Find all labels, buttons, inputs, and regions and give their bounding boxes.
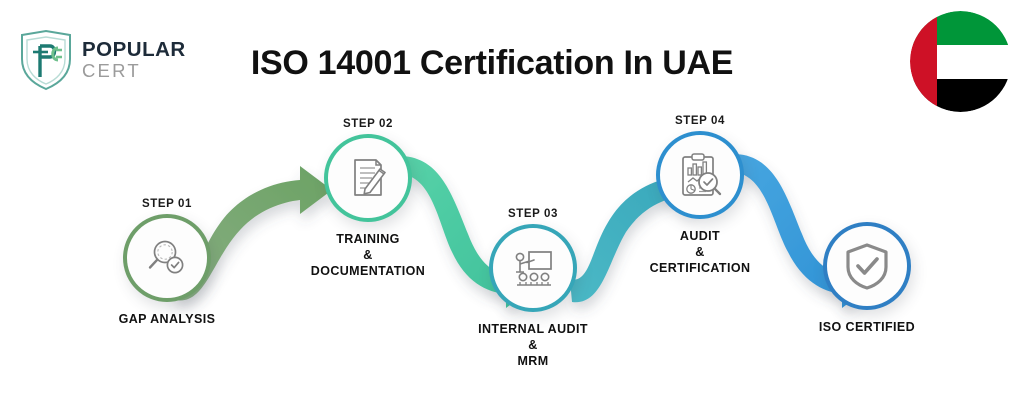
- node-title-line: TRAINING: [273, 231, 463, 247]
- uae-flag-icon: [910, 11, 1011, 112]
- node-title-line: &: [605, 244, 795, 260]
- clipboard-report-magnifier-icon: [677, 151, 723, 199]
- flow-node-training-documentation[interactable]: STEP 02: [273, 118, 463, 279]
- step-label: STEP 04: [605, 115, 795, 127]
- node-circle-wrap: [324, 134, 412, 222]
- node-circle: [489, 224, 577, 312]
- step-label: STEP 01: [72, 198, 262, 210]
- node-circle-wrap: [123, 214, 211, 302]
- node-title-line: &: [438, 337, 628, 353]
- step-label: STEP 02: [273, 118, 463, 130]
- shield-check-icon: [843, 241, 891, 291]
- flow-node-iso-certified[interactable]: ISO CERTIFIED: [772, 218, 962, 335]
- process-flow: STEP 01 GAP ANALYSIS STEP 02: [0, 110, 1024, 410]
- node-title: TRAINING & DOCUMENTATION: [273, 231, 463, 279]
- node-circle-wrap: [489, 224, 577, 312]
- training-presentation-icon: [509, 246, 557, 290]
- node-circle-wrap: [656, 131, 744, 219]
- node-title-line: DOCUMENTATION: [273, 263, 463, 279]
- node-circle: [823, 222, 911, 310]
- node-title-line: MRM: [438, 353, 628, 369]
- node-title-line: INTERNAL AUDIT: [438, 321, 628, 337]
- magnifying-glass-icon: [144, 235, 190, 281]
- page-title: ISO 14001 Certification In UAE: [0, 44, 1024, 83]
- node-title-line: CERTIFICATION: [605, 260, 795, 276]
- node-title-line: &: [273, 247, 463, 263]
- node-circle: [324, 134, 412, 222]
- node-title-line: AUDIT: [605, 228, 795, 244]
- node-circle-wrap: [823, 222, 911, 310]
- document-pen-icon: [346, 155, 390, 201]
- node-title: INTERNAL AUDIT & MRM: [438, 321, 628, 369]
- flow-node-internal-audit-mrm[interactable]: STEP 03: [438, 208, 628, 369]
- flow-node-gap-analysis[interactable]: STEP 01 GAP ANALYSIS: [72, 198, 262, 327]
- node-circle: [123, 214, 211, 302]
- flow-node-audit-certification[interactable]: STEP 04: [605, 115, 795, 276]
- node-circle: [656, 131, 744, 219]
- node-title: AUDIT & CERTIFICATION: [605, 228, 795, 276]
- node-title: ISO CERTIFIED: [772, 319, 962, 335]
- node-title: GAP ANALYSIS: [72, 311, 262, 327]
- step-label: STEP 03: [438, 208, 628, 220]
- header: POPULAR CERT ISO 14001 Certification In …: [0, 0, 1024, 120]
